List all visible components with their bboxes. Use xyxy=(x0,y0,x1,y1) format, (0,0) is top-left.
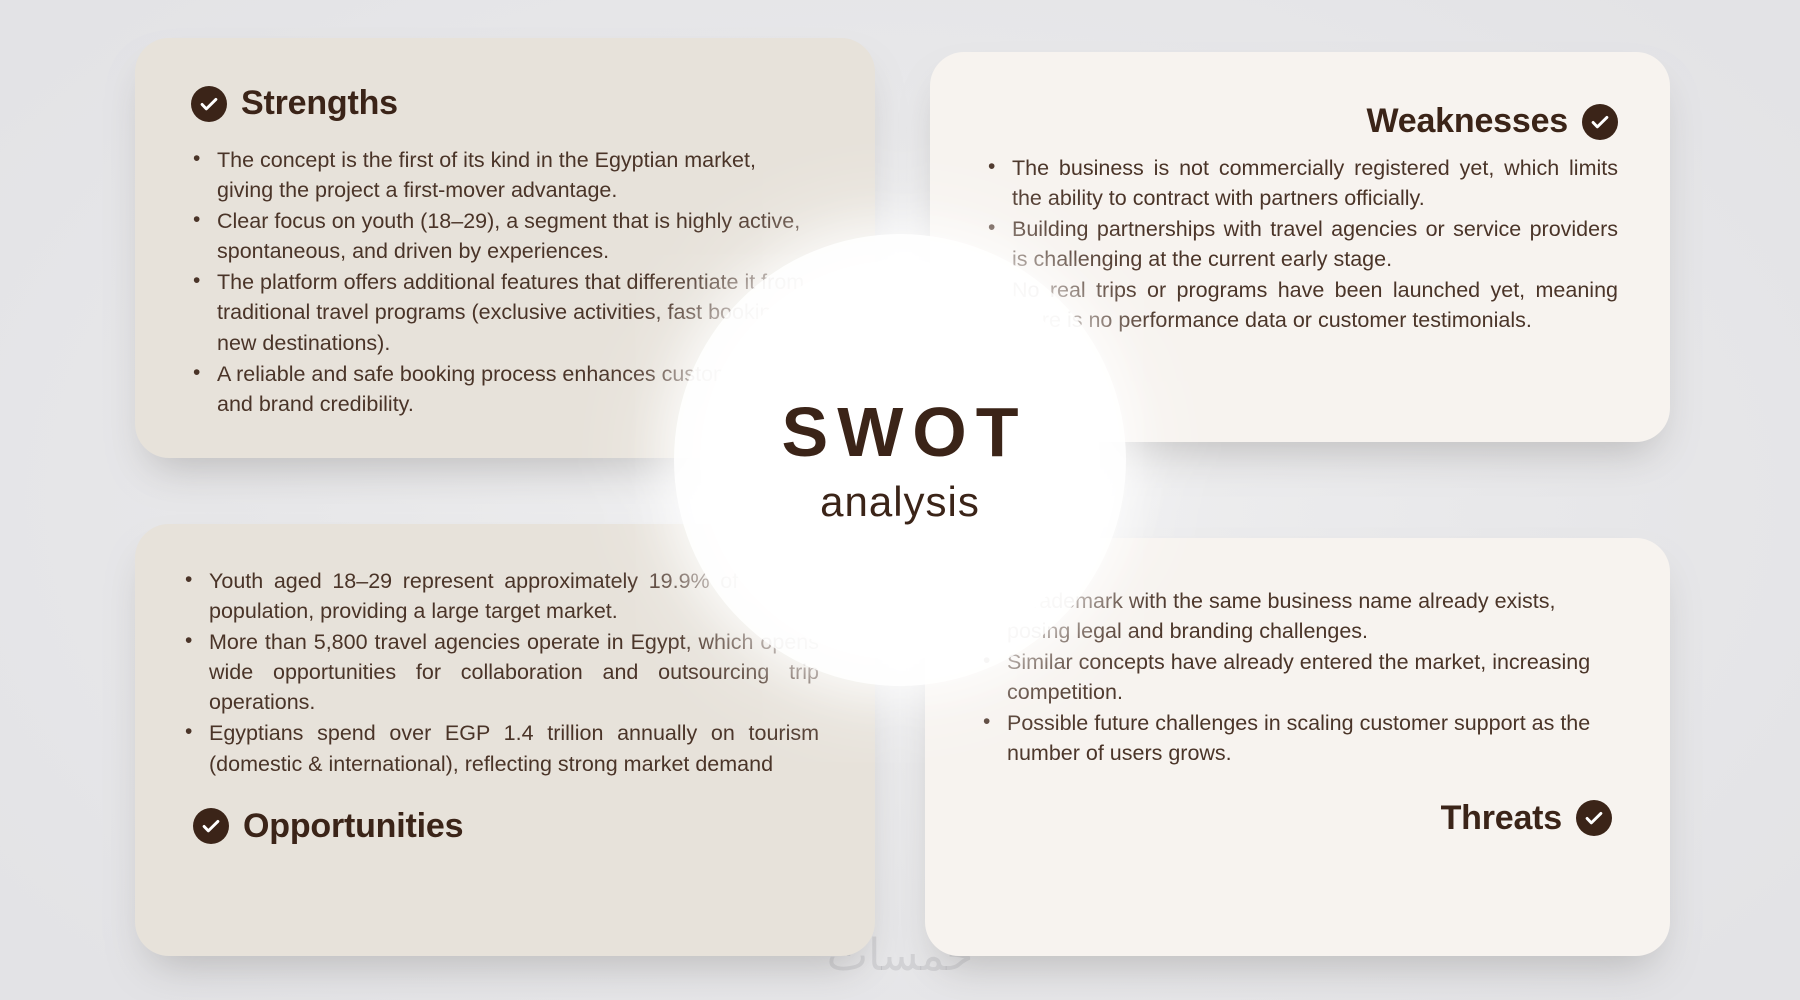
list-item: Building partnerships with travel agenci… xyxy=(986,214,1618,274)
threats-heading: Threats xyxy=(981,799,1612,838)
threats-list: A trademark with the same business name … xyxy=(981,586,1612,769)
weaknesses-heading: Weaknesses xyxy=(986,102,1618,141)
swot-subtitle: analysis xyxy=(820,481,980,523)
threats-title: Threats xyxy=(1441,799,1562,838)
list-item: Similar concepts have already entered th… xyxy=(981,647,1612,707)
list-item: The platform offers additional features … xyxy=(191,267,817,357)
list-item: A trademark with the same business name … xyxy=(981,586,1612,646)
swot-diagram: خمسات Strengths The concept is the first… xyxy=(0,0,1800,1000)
check-circle-icon xyxy=(1576,800,1612,836)
center-badge: SWOT analysis xyxy=(700,260,1100,660)
swot-title: SWOT xyxy=(773,397,1028,467)
opportunities-list: Youth aged 18–29 represent approximately… xyxy=(183,566,819,779)
check-circle-icon xyxy=(191,86,227,122)
strengths-heading: Strengths xyxy=(191,84,817,123)
opportunities-heading: Opportunities xyxy=(183,807,819,846)
list-item: More than 5,800 travel agencies operate … xyxy=(183,627,819,717)
list-item: Youth aged 18–29 represent approximately… xyxy=(183,566,819,626)
list-item: The concept is the first of its kind in … xyxy=(191,145,817,205)
list-item: Possible future challenges in scaling cu… xyxy=(981,708,1612,768)
weaknesses-list: The business is not commercially registe… xyxy=(986,153,1618,336)
list-item: Clear focus on youth (18–29), a segment … xyxy=(191,206,817,266)
list-item: The business is not commercially registe… xyxy=(986,153,1618,213)
check-circle-icon xyxy=(193,808,229,844)
check-circle-icon xyxy=(1582,104,1618,140)
list-item: No real trips or programs have been laun… xyxy=(986,275,1618,335)
weaknesses-title: Weaknesses xyxy=(1366,102,1568,141)
opportunities-title: Opportunities xyxy=(243,807,463,846)
strengths-title: Strengths xyxy=(241,84,398,123)
list-item: Egyptians spend over EGP 1.4 trillion an… xyxy=(183,718,819,778)
